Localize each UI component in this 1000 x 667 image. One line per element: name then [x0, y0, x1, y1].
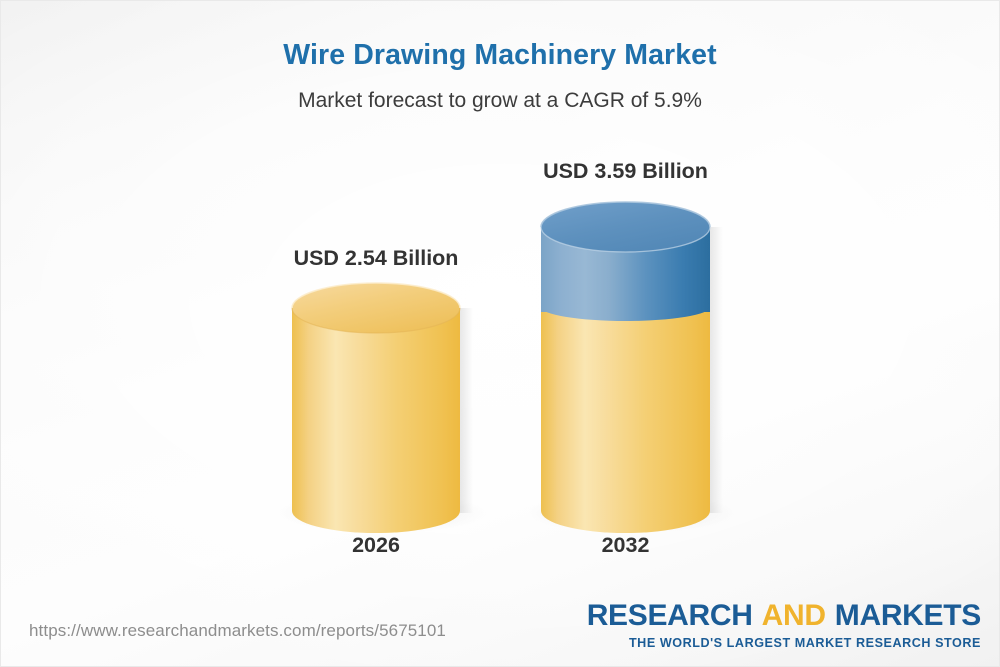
market-forecast-chart-card: Wire Drawing Machinery Market Market for…: [0, 0, 1000, 667]
bar-category-label-2032: 2032: [541, 533, 710, 558]
logo-wordmark: RESEARCHANDMARKETS: [587, 601, 981, 631]
cylinder-bars-group: [1, 1, 1000, 667]
logo-word-research: RESEARCH: [587, 599, 753, 632]
bar-value-label-2032: USD 3.59 Billion: [481, 159, 770, 184]
bar-2026-body: [292, 308, 460, 533]
bar-category-label-2026: 2026: [292, 533, 460, 558]
logo-word-and: AND: [762, 599, 826, 632]
research-and-markets-logo[interactable]: RESEARCHANDMARKETS THE WORLD'S LARGEST M…: [587, 601, 981, 650]
bar-2032[interactable]: [541, 202, 723, 533]
logo-tagline: THE WORLD'S LARGEST MARKET RESEARCH STOR…: [587, 637, 981, 650]
logo-word-markets: MARKETS: [835, 599, 981, 632]
bar-2026[interactable]: [292, 283, 473, 533]
bar-2032-base-body: [541, 312, 710, 533]
report-url[interactable]: https://www.researchandmarkets.com/repor…: [29, 621, 446, 641]
bar-value-label-2026: USD 2.54 Billion: [232, 246, 520, 271]
